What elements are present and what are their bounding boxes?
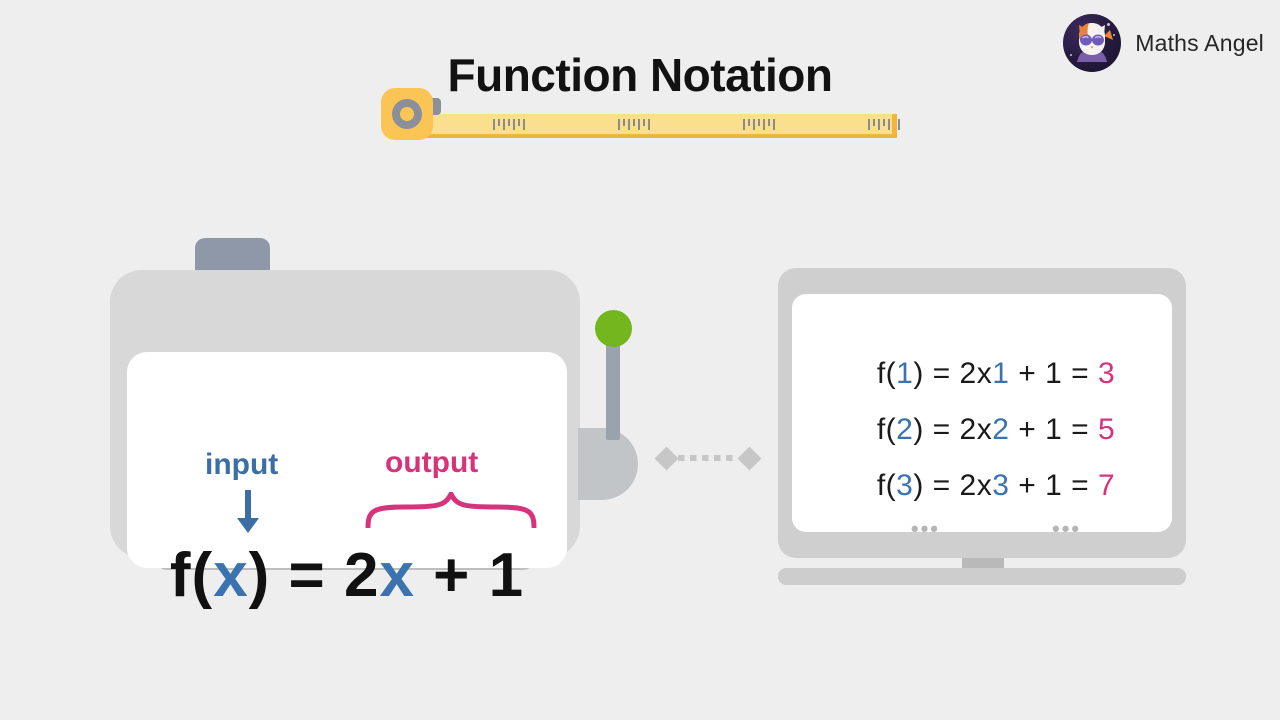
eq-plus: + 1 = [1009,413,1098,446]
curly-brace-up-icon [365,492,537,528]
formula-variable-x: x [379,541,414,610]
lever-arm-icon [606,340,620,440]
tape-head-icon [381,88,433,140]
equation-list: f(1) = 2x1 + 1 = 3 f(2) = 2x2 + 1 = 5 f(… [806,320,1186,558]
equation-row: f(3) = 2x3 + 1 = 7 [806,458,1186,514]
dashed-line [678,455,738,461]
eq-mid: ) = 2x [913,413,992,446]
eq-input: 3 [896,469,913,502]
arrow-down-icon [245,490,251,524]
input-label: input [205,448,278,482]
diamond-node-icon [654,446,678,470]
eq-input-repeat: 3 [992,469,1009,502]
eq-mid: ) = 2x [913,469,992,502]
laptop: f(1) = 2x1 + 1 = 3 f(2) = 2x2 + 1 = 5 f(… [778,268,1186,600]
machine-lever[interactable] [580,310,645,495]
formula-variable-x: x [213,541,248,610]
eq-input: 2 [896,413,913,446]
formula-close-equals: ) = 2 [249,541,380,610]
output-label: output [385,446,478,480]
eq-fn: f( [877,469,896,502]
eq-input-repeat: 2 [992,413,1009,446]
dashed-link-icon [658,446,758,470]
equation-row: f(1) = 2x1 + 1 = 3 [806,346,1186,402]
ellipsis-right: ••• [1052,518,1081,540]
laptop-display: f(1) = 2x1 + 1 = 3 f(2) = 2x2 + 1 = 5 f(… [792,294,1172,532]
machine-body: input output f(x) = 2x + 1 [110,270,580,558]
eq-plus: + 1 = [1009,357,1098,390]
tick-group [493,119,525,130]
tape-reel-icon [392,99,422,129]
eq-fn: f( [877,357,896,390]
lever-knob-icon[interactable] [595,310,632,347]
formula-tail: + 1 [415,541,524,610]
tape-measure-icon [381,88,897,143]
eq-result: 3 [1098,357,1115,390]
eq-result: 7 [1098,469,1115,502]
eq-input-repeat: 1 [992,357,1009,390]
ellipsis-row: ••• ••• [806,518,1186,540]
diamond-node-icon [737,446,761,470]
tick-group [868,119,900,130]
eq-input: 1 [896,357,913,390]
laptop-base [778,568,1186,585]
eq-fn: f( [877,413,896,446]
eq-mid: ) = 2x [913,357,992,390]
laptop-lid: f(1) = 2x1 + 1 = 3 f(2) = 2x2 + 1 = 5 f(… [778,268,1186,558]
formula-f-open: f( [170,541,213,610]
ellipsis-left: ••• [911,518,940,540]
eq-plus: + 1 = [1009,469,1098,502]
tick-group [618,119,650,130]
tick-group [743,119,775,130]
tape-ribbon [421,114,897,138]
function-machine: input output f(x) = 2x + 1 [110,238,588,590]
function-formula: f(x) = 2x + 1 [127,540,567,611]
machine-display: input output f(x) = 2x + 1 [127,352,567,568]
eq-result: 5 [1098,413,1115,446]
equation-row: f(2) = 2x2 + 1 = 5 [806,402,1186,458]
